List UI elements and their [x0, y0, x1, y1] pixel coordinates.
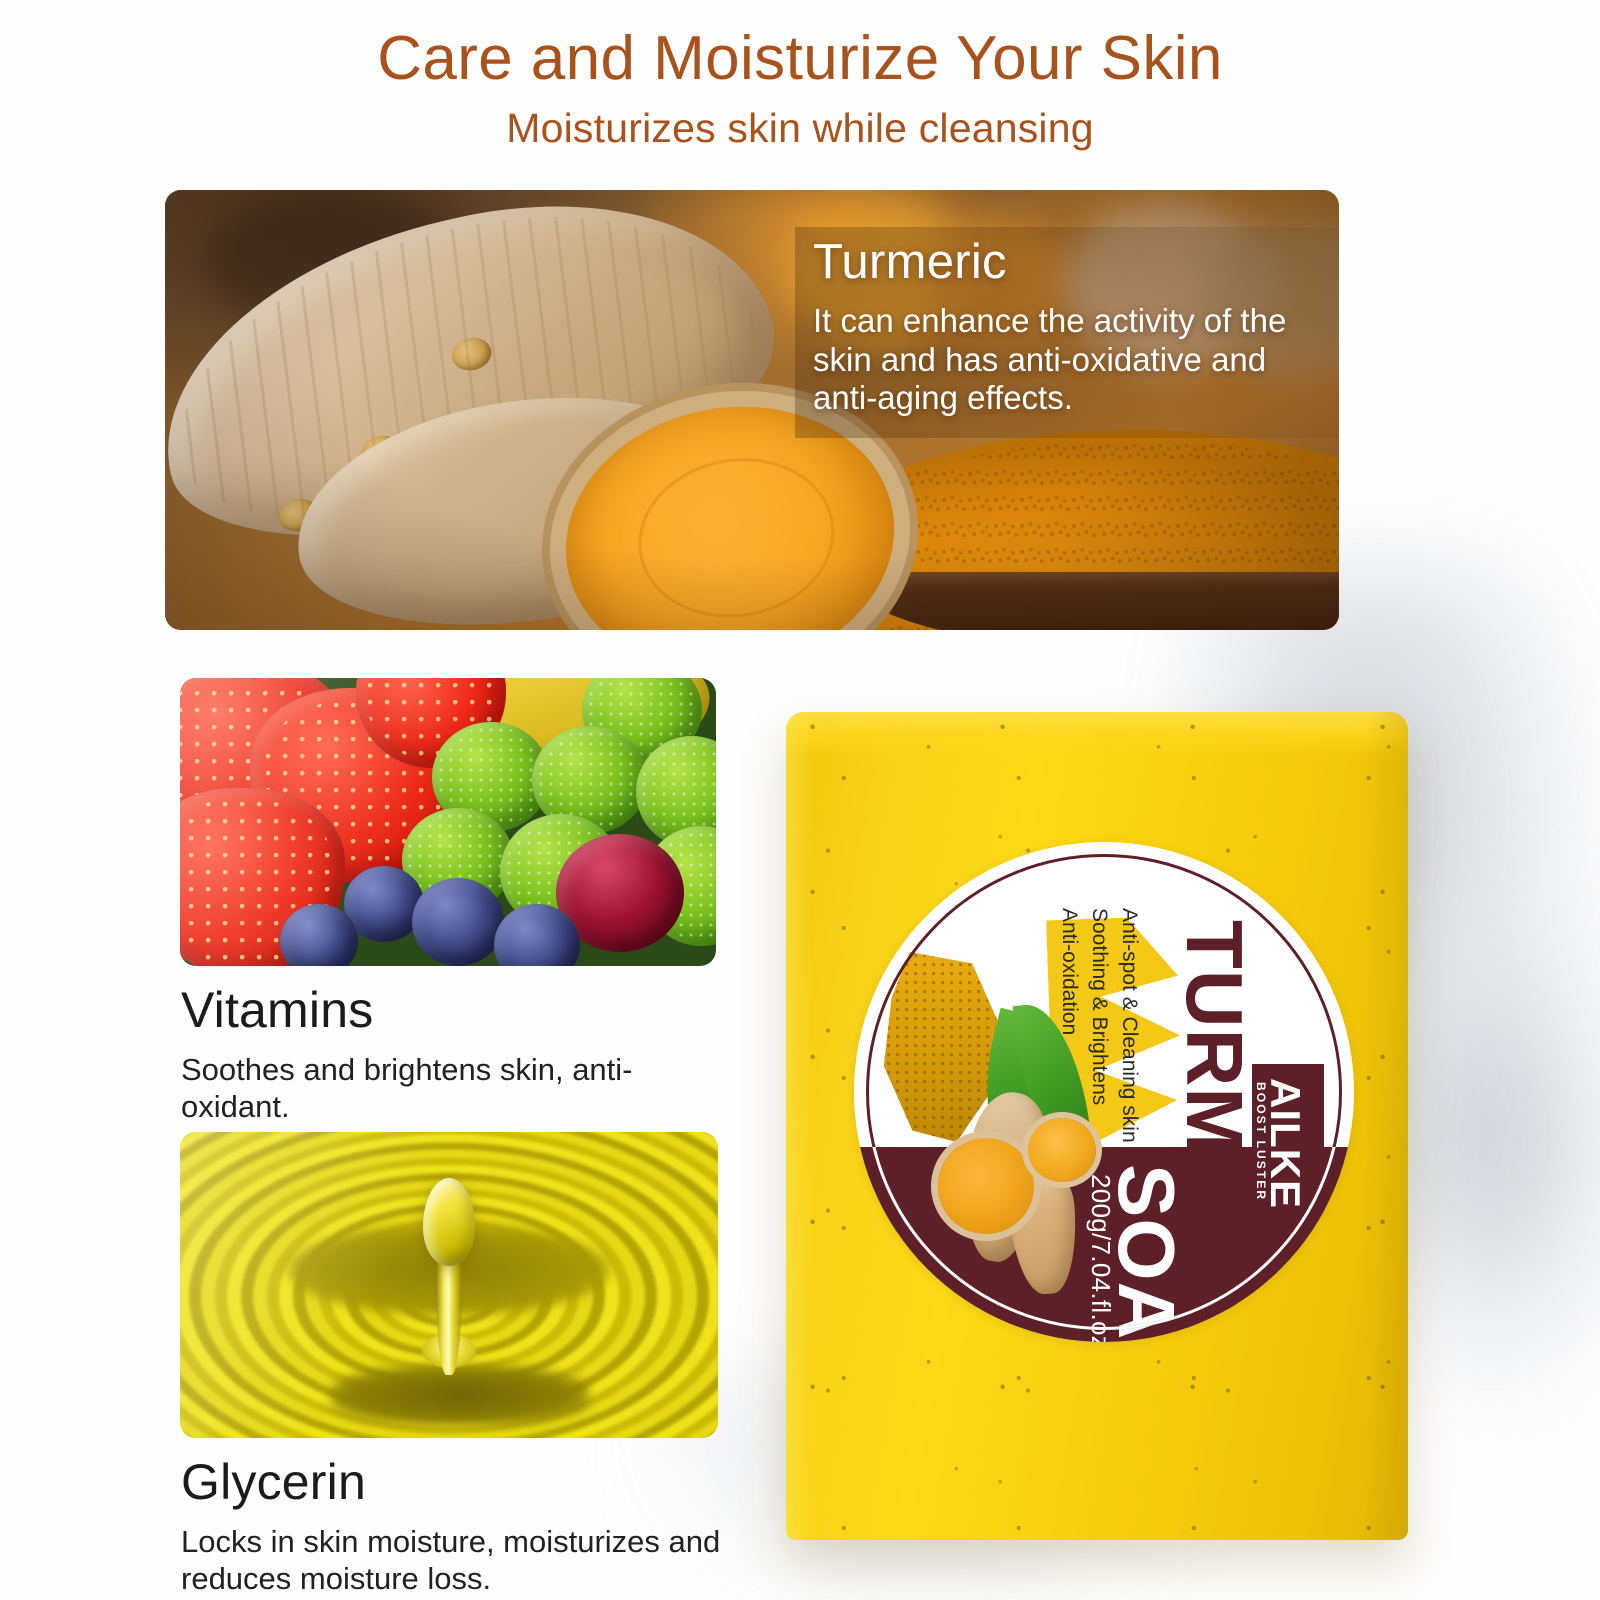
hero-description: It can enhance the activity of the skin …: [813, 302, 1333, 418]
product-label: Anti-spot & Cleaning skin Soothing & Bri…: [854, 842, 1354, 1342]
label-brand-name: AILKE: [1264, 1078, 1306, 1209]
ingredient-block-glycerin: Glycerin Locks in skin moisture, moistur…: [181, 1456, 721, 1597]
soap-bar-product: Anti-spot & Cleaning skin Soothing & Bri…: [786, 712, 1408, 1540]
glycerin-photo: [180, 1132, 718, 1438]
label-benefits-list: Anti-spot & Cleaning skin Soothing & Bri…: [1055, 908, 1144, 1143]
header: Care and Moisturize Your Skin Moisturize…: [0, 26, 1600, 152]
label-brand-tagline: BOOST LUSTER: [1254, 1082, 1268, 1201]
photo-highlight: [180, 678, 716, 966]
vitamins-photo: [180, 678, 716, 966]
ingredient-title-glycerin: Glycerin: [181, 1456, 721, 1509]
label-benefit-line: Anti-spot & Cleaning skin: [1114, 908, 1144, 1143]
photo-highlight: [180, 1132, 718, 1438]
page-title: Care and Moisturize Your Skin: [0, 26, 1600, 93]
label-net-weight: 200g/7.04.fl.oz: [1085, 1174, 1116, 1342]
ingredient-description-vitamins: Soothes and brightens skin, anti-oxidant…: [181, 1051, 701, 1125]
label-benefit-line: Soothing & Brightens: [1084, 908, 1114, 1143]
page-subtitle: Moisturizes skin while cleansing: [0, 105, 1600, 152]
ingredient-title-vitamins: Vitamins: [181, 984, 701, 1037]
ingredient-block-vitamins: Vitamins Soothes and brightens skin, ant…: [181, 984, 701, 1125]
product-infographic-page: Care and Moisturize Your Skin Moisturize…: [0, 0, 1600, 1600]
hero-turmeric-panel: Turmeric It can enhance the activity of …: [165, 190, 1339, 630]
label-product-type: SOAP: [1106, 1164, 1186, 1342]
label-benefit-line: Anti-oxidation: [1055, 908, 1085, 1143]
ingredient-description-glycerin: Locks in skin moisture, moisturizes and …: [181, 1523, 721, 1597]
hero-title: Turmeric: [813, 234, 1007, 290]
